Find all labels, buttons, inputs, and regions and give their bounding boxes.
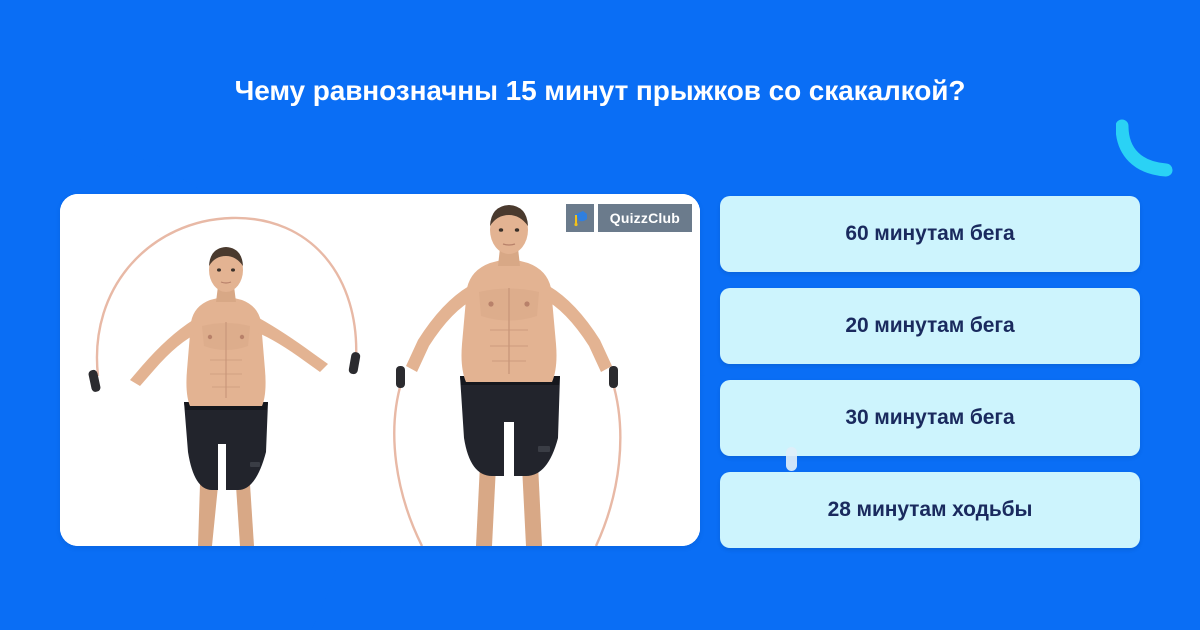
scroll-indicator-pip[interactable] bbox=[786, 447, 797, 471]
cyan-crescent-icon bbox=[1116, 118, 1178, 180]
answer-option-label: 30 минутам бега bbox=[845, 406, 1014, 430]
jump-rope-photo bbox=[60, 194, 700, 546]
answer-option-label: 20 минутам бега bbox=[845, 314, 1014, 338]
watermark-badge: QuizzClub bbox=[566, 204, 692, 232]
question-image-card: QuizzClub bbox=[60, 194, 700, 546]
answer-options-list: 60 минутам бега 20 минутам бега 30 минут… bbox=[720, 196, 1140, 548]
quiz-card-canvas: Чему равнозначны 15 минут прыжков со ска… bbox=[0, 0, 1200, 630]
answer-option[interactable]: 60 минутам бега bbox=[720, 196, 1140, 272]
jump-rope-illustration bbox=[60, 194, 700, 546]
graduation-cap-icon bbox=[566, 204, 594, 232]
page-title: Чему равнозначны 15 минут прыжков со ска… bbox=[0, 74, 1200, 108]
watermark-brand-label: QuizzClub bbox=[598, 204, 692, 232]
answer-option[interactable]: 28 минутам ходьбы bbox=[720, 472, 1140, 548]
answer-option[interactable]: 30 минутам бега bbox=[720, 380, 1140, 456]
answer-option[interactable]: 20 минутам бега bbox=[720, 288, 1140, 364]
answer-option-label: 28 минутам ходьбы bbox=[828, 498, 1033, 522]
answer-option-label: 60 минутам бега bbox=[845, 222, 1014, 246]
